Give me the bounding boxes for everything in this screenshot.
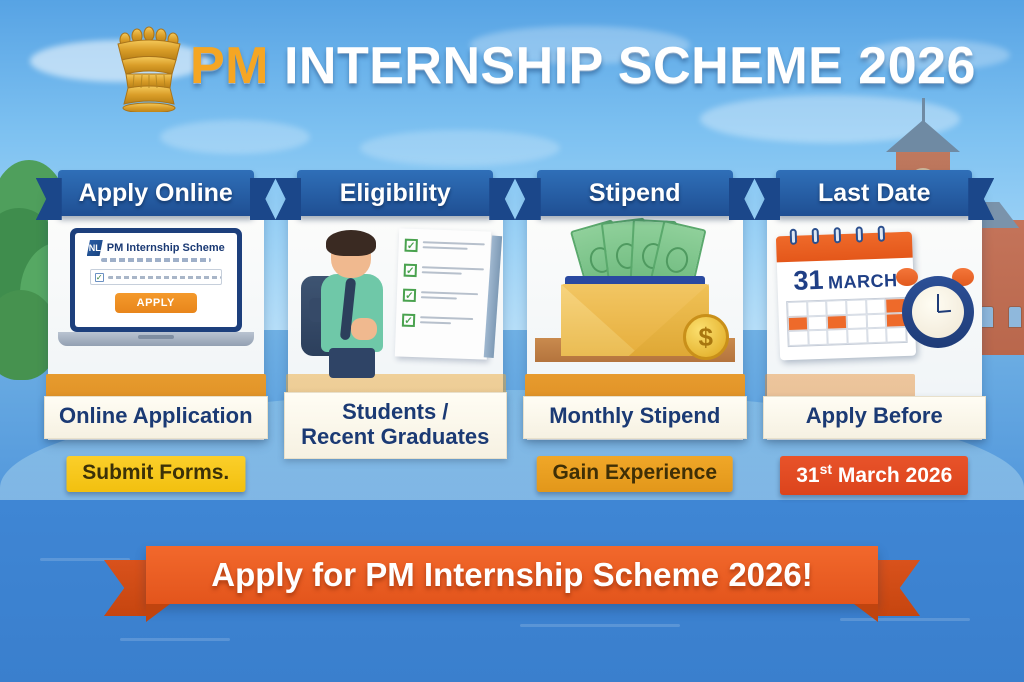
student-legs [329,348,375,378]
checkmark-icon: ✓ [405,239,418,252]
checkmark-icon: ✓ [402,314,415,327]
card-label: Monthly Stipend [528,404,742,429]
calendar-grid [786,297,908,347]
calendar-month: MARCH [828,270,898,292]
poster-root: PM INTERNSHIP SCHEME 2026 Apply Online N… [0,0,1024,682]
card-apply-online[interactable]: Apply Online NL PM Internship Scheme ✓ [40,168,272,498]
card-label-plate: Monthly Stipend [523,396,747,439]
card-label-line1: Students / [289,400,503,425]
card-banner: Last Date [776,170,972,216]
badge-day: 31 [796,464,819,487]
card-stipend[interactable]: Stipend $ Monthly Stipend Gain Experienc… [519,168,751,498]
checkbox-icon[interactable]: ✓ [95,273,104,282]
card-label-plate: Apply Before [763,396,987,439]
cta-ribbon-label: Apply for PM Internship Scheme 2026! [211,556,812,594]
badge-suffix: st [820,461,832,477]
card-badge: Gain Experience [536,456,733,492]
checklist-item: ✓ [403,289,483,305]
title-accent: PM [190,37,269,95]
cloud-icon [160,120,310,154]
card-banner: Apply Online [58,170,254,216]
card-label-line2: Recent Graduates [289,425,503,450]
laptop-field-text [108,276,221,279]
card-label-plate: Online Application [44,396,268,439]
student-arm [351,318,377,340]
card-label-plate: Students / Recent Graduates [284,392,508,459]
badge-rest: March 2026 [832,464,952,487]
student-illustration: ✓ ✓ ✓ ✓ [295,220,495,380]
card-banner-label: Eligibility [340,179,451,208]
dollar-coin-icon: $ [683,314,729,360]
cards-row: Apply Online NL PM Internship Scheme ✓ [40,168,990,498]
stipend-illustration: $ [535,220,735,380]
title-rest: INTERNSHIP SCHEME 2026 [269,37,976,95]
checkmark-icon: ✓ [404,264,417,277]
card-badge: 31st March 2026 [780,456,968,495]
india-national-emblem-icon [110,26,188,112]
card-badge: Submit Forms. [66,456,245,492]
cta-ribbon[interactable]: Apply for PM Internship Scheme 2026! [146,546,878,604]
scheme-logo-icon: NL [87,240,103,256]
laptop-brand-label: PM Internship Scheme [107,242,225,254]
card-banner-label: Last Date [818,179,931,208]
card-last-date[interactable]: Last Date 31 MARCH [759,168,991,498]
checklist-item: ✓ [405,239,485,255]
page-title: PM INTERNSHIP SCHEME 2026 [190,36,976,96]
card-banner-label: Apply Online [79,179,233,208]
checklist-item: ✓ [402,314,482,330]
cloud-icon [360,130,560,166]
calendar-day: 31 [793,265,824,296]
alarm-clock-icon [902,276,974,348]
laptop-base [58,332,254,346]
apply-button[interactable]: APPLY [115,293,197,313]
laptop-illustration: NL PM Internship Scheme ✓ APPLY [56,220,256,380]
checklist-document: ✓ ✓ ✓ ✓ [395,228,491,359]
laptop-subtitle-placeholder [101,258,211,262]
card-label: Apply Before [768,404,982,429]
student-hair [326,230,376,256]
checkmark-icon: ✓ [403,289,416,302]
card-banner: Eligibility [297,170,493,216]
card-eligibility[interactable]: Eligibility ✓ ✓ [280,168,512,498]
calendar-icon: 31 MARCH [776,232,916,361]
laptop-input-field[interactable]: ✓ [90,269,222,285]
card-banner-label: Stipend [589,179,681,208]
calendar-illustration: 31 MARCH [774,220,974,380]
card-banner: Stipend [537,170,733,216]
checklist-item: ✓ [404,264,484,280]
card-label: Online Application [49,404,263,429]
